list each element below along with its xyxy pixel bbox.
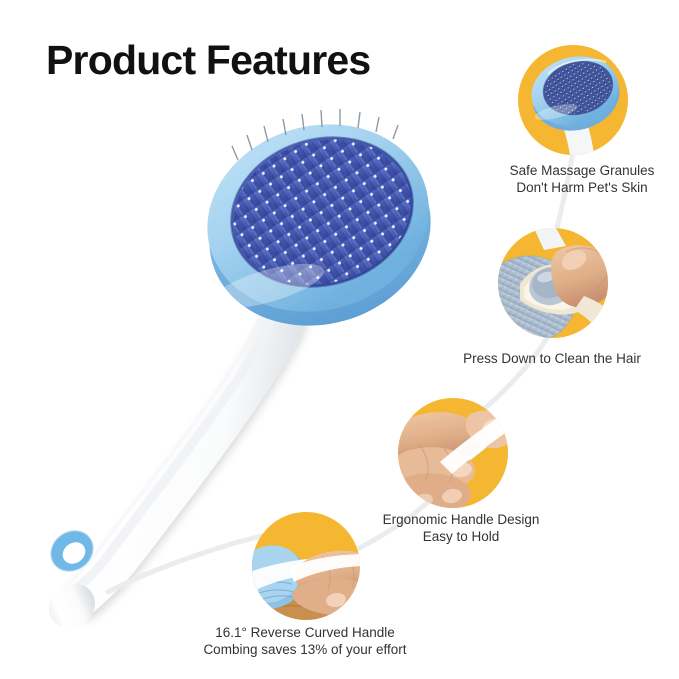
brush-head — [185, 99, 453, 352]
callout-circle-safe-massage-granules — [518, 45, 628, 170]
callout-caption-reverse-curved-handle: 16.1° Reverse Curved Handle Combing save… — [186, 624, 424, 658]
callout-circle-ergonomic-handle — [380, 398, 524, 518]
callout-caption-press-down-clean: Press Down to Clean the Hair — [452, 350, 652, 367]
callout-caption-safe-massage-granules: Safe Massage Granules Don't Harm Pet's S… — [494, 162, 670, 196]
caption-line: 16.1° Reverse Curved Handle — [186, 624, 424, 641]
callout-circle-press-down-clean — [473, 228, 622, 352]
caption-line: Don't Harm Pet's Skin — [494, 179, 670, 196]
caption-line: Press Down to Clean the Hair — [452, 350, 652, 367]
caption-line: Safe Massage Granules — [494, 162, 670, 179]
callout-caption-ergonomic-handle: Ergonomic Handle Design Easy to Hold — [363, 511, 559, 545]
main-product-brush — [40, 99, 453, 637]
infographic-canvas: Product Features — [0, 0, 679, 679]
caption-line: Ergonomic Handle Design — [363, 511, 559, 528]
product-illustration — [0, 0, 679, 679]
caption-line: Easy to Hold — [363, 528, 559, 545]
caption-line: Combing saves 13% of your effort — [186, 641, 424, 658]
